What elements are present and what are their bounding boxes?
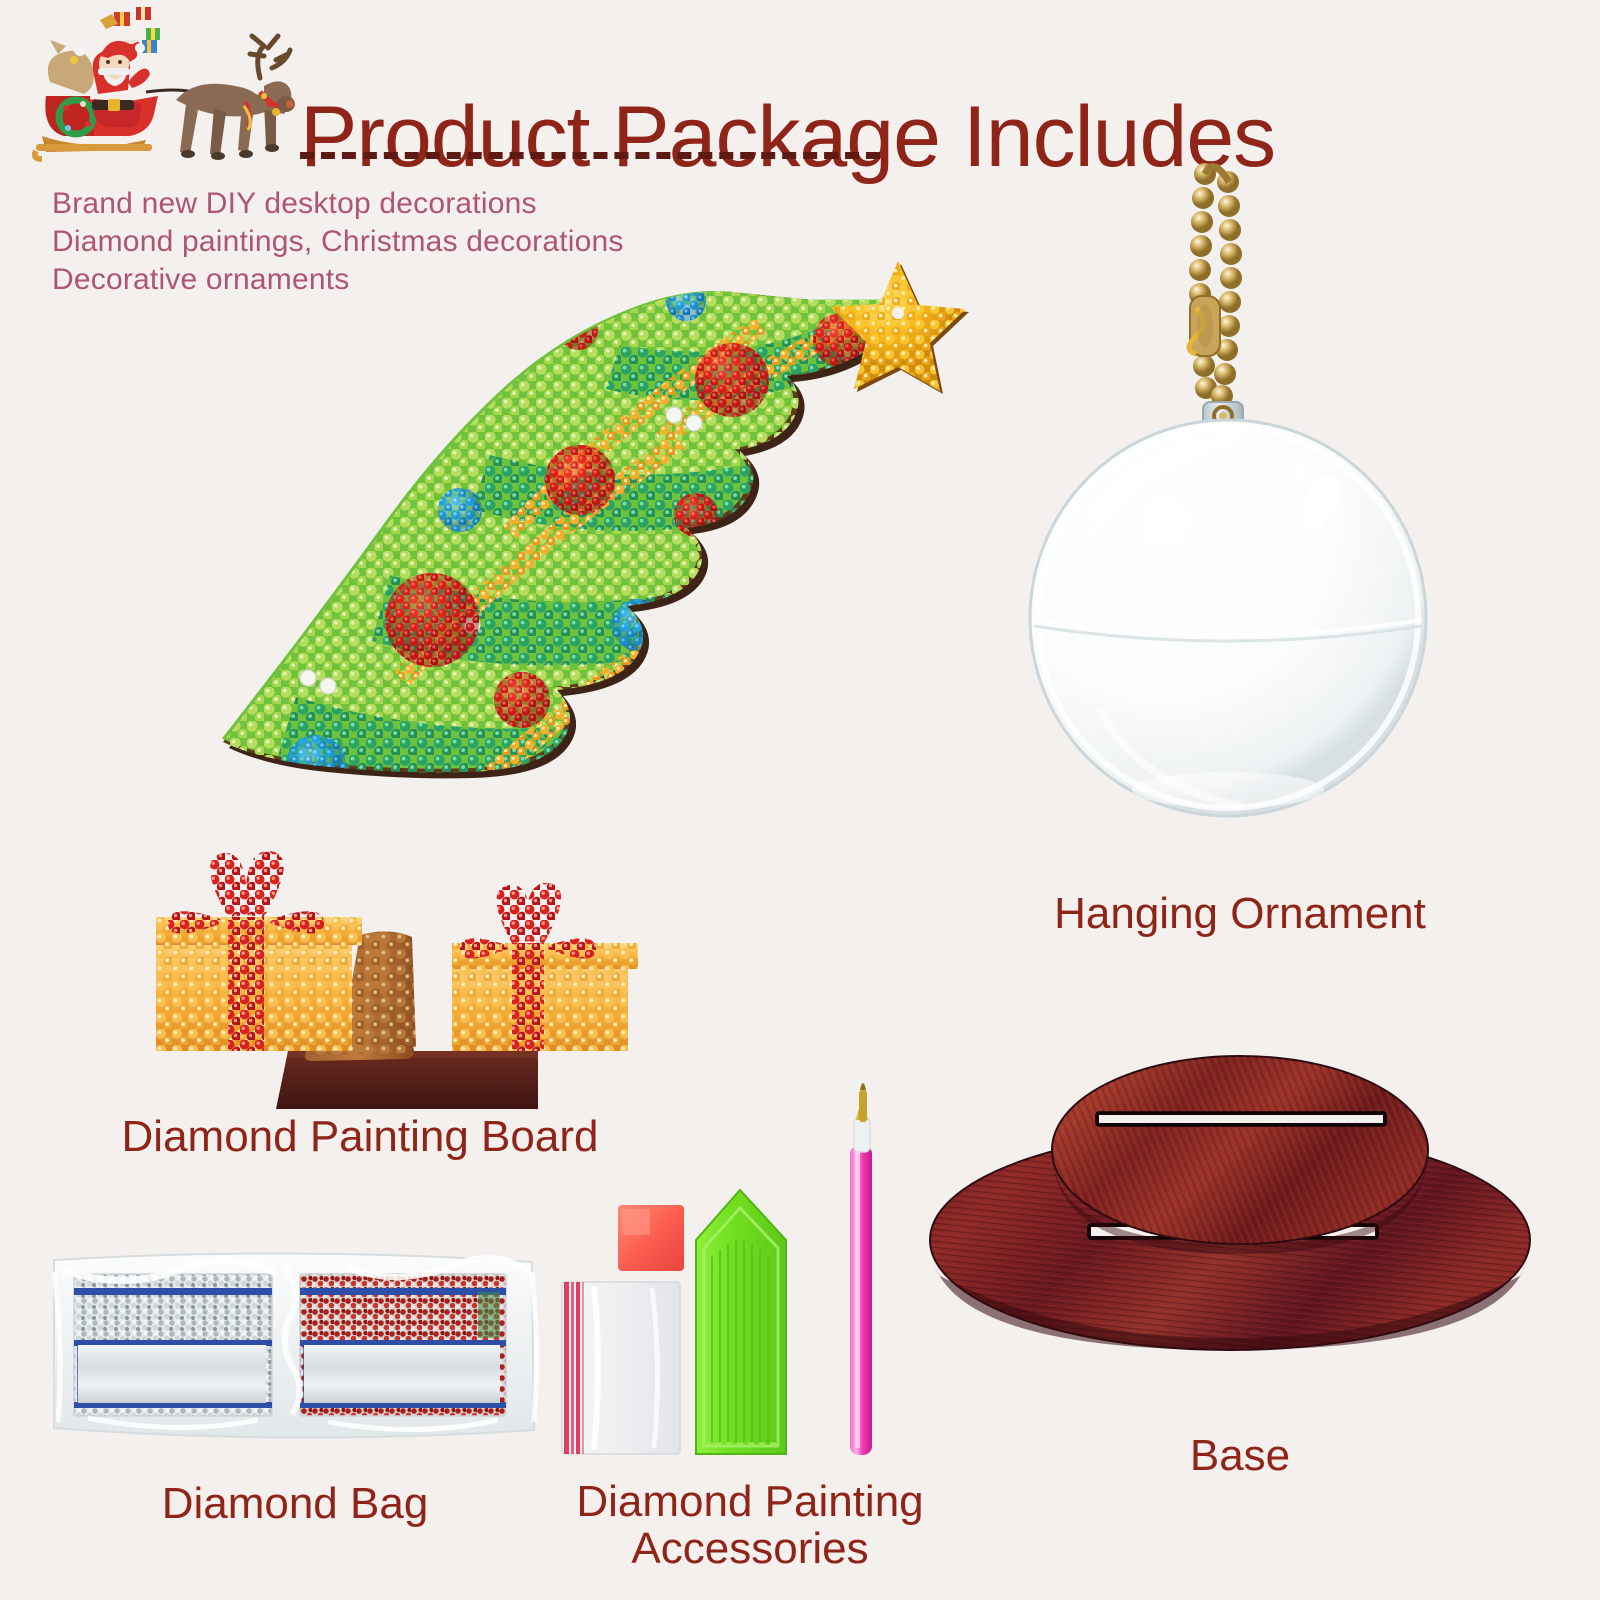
green-drill-tray [696,1190,786,1454]
hanging-ornament-artwork [1000,150,1460,870]
caption-diamond-bag: Diamond Bag [55,1480,535,1527]
clear-zip-bag [562,1282,680,1454]
chain-clasp-icon [1189,296,1220,356]
santa-sleigh-reindeer-icon [28,4,298,164]
subtitle-line-1: Brand new DIY desktop decorations [52,187,537,221]
infographic-canvas: Product Package Includes Brand new DIY d… [0,0,1600,1600]
caption-diamond-painting-accessories: Diamond Painting Accessories [500,1478,1000,1572]
accessories-artwork [560,1060,900,1480]
ball-chain-icon [1189,163,1242,407]
caption-base: Base [1000,1432,1480,1479]
gift-box-left [156,851,362,1051]
inner-bag-red [300,1274,506,1416]
title-divider [300,152,880,159]
diamond-painting-board-artwork [60,245,970,1125]
tree-topper-star [831,261,969,394]
base-artwork [930,1000,1550,1385]
clear-acrylic-ball [1030,420,1426,816]
gift-box-right [452,883,638,1051]
diamond-bag-artwork [48,1232,538,1457]
caption-hanging-ornament: Hanging Ornament [930,890,1550,937]
pink-drill-pen [850,1083,872,1455]
inner-bag-silver [74,1274,272,1416]
red-wax-square [618,1205,684,1271]
